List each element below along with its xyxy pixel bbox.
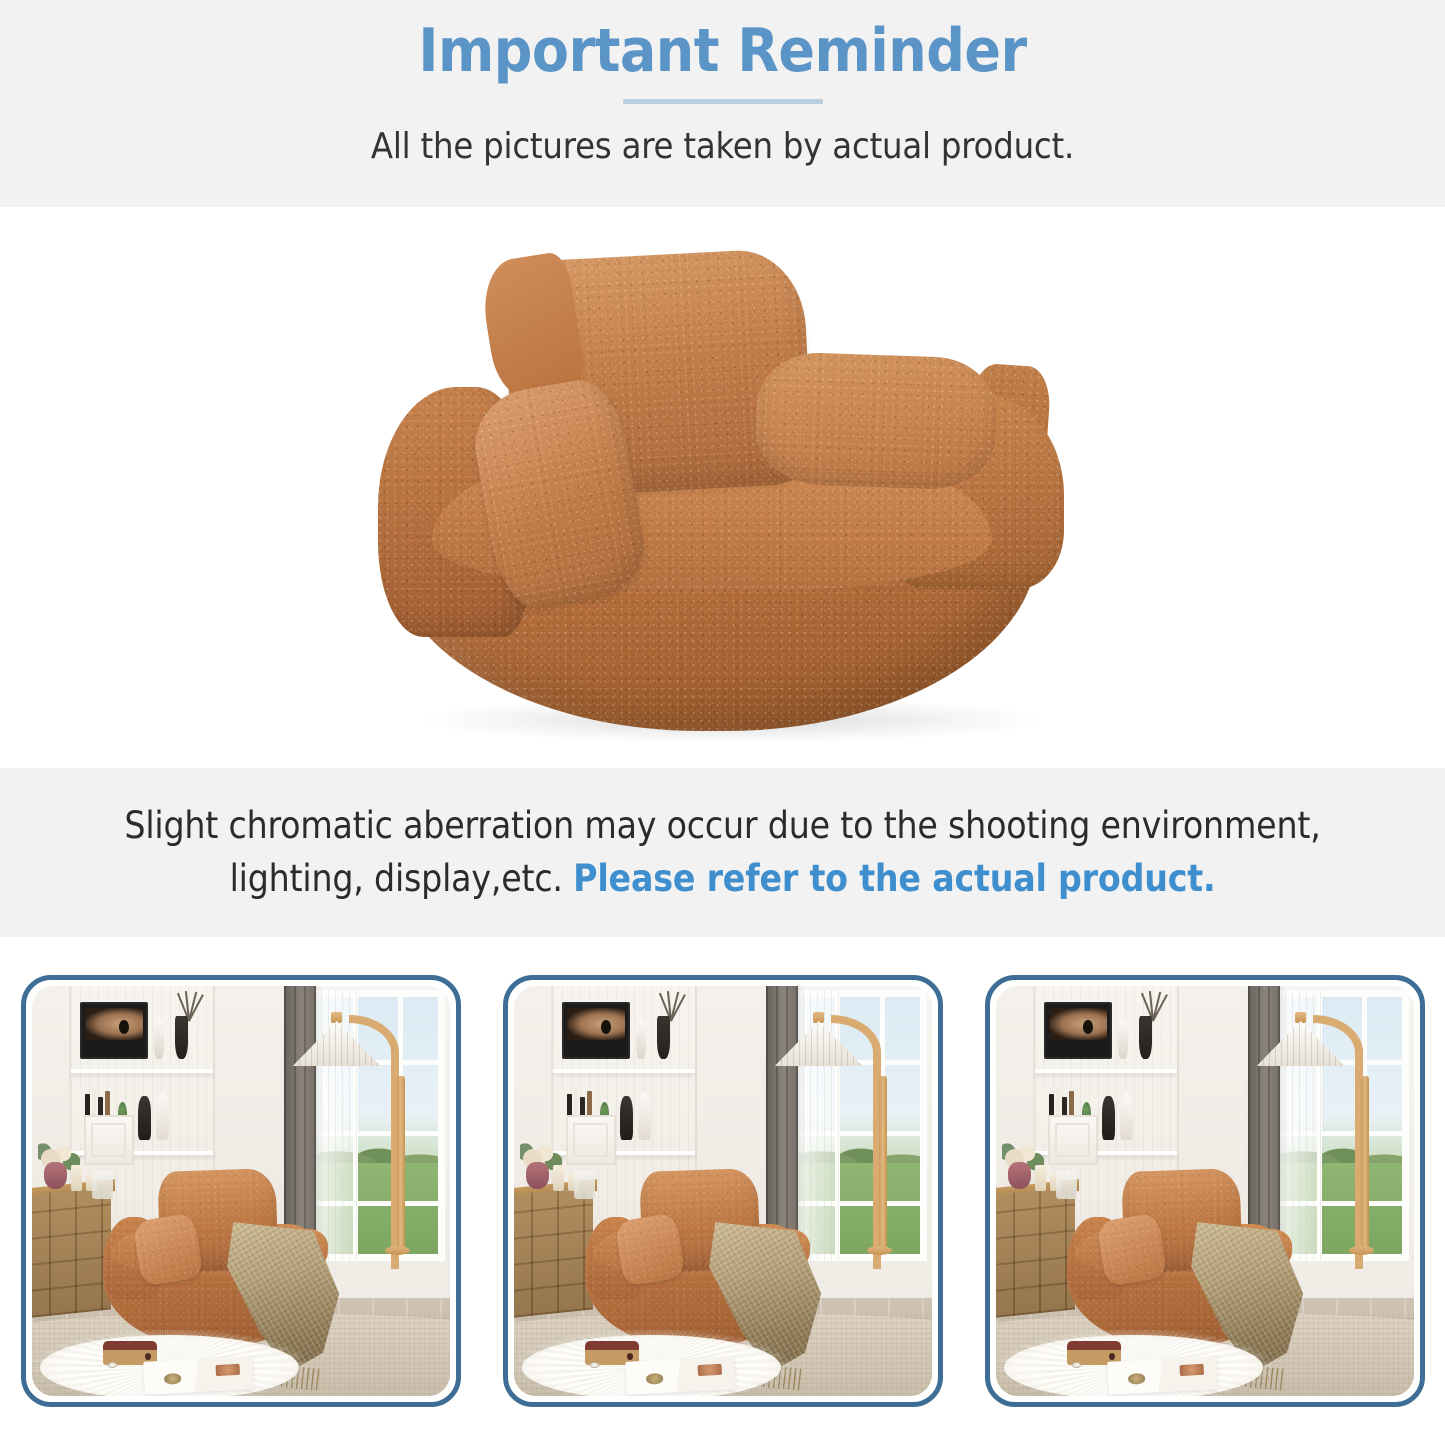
open-magazine — [626, 1356, 736, 1394]
disclaimer-accent: Please refer to the actual product. — [573, 857, 1215, 900]
disclaimer-line-1: Slight chromatic aberration may occur du… — [124, 804, 1320, 847]
disclaimer-line-2-plain: lighting, display,etc. — [230, 857, 574, 900]
product-infographic-page: Important Reminder All the pictures are … — [0, 0, 1445, 1445]
open-magazine — [1108, 1356, 1218, 1394]
bookcase-shelf — [1035, 1069, 1177, 1073]
lifestyle-card-1[interactable] — [21, 975, 461, 1407]
lifestyle-image-2 — [514, 986, 932, 1396]
black-vase — [175, 1016, 188, 1060]
hero-stage — [0, 207, 1445, 768]
white-sculpture — [636, 1018, 646, 1059]
pink-vase — [44, 1162, 67, 1189]
living-room-scene — [32, 986, 450, 1396]
wood-side-cabinet — [32, 1186, 111, 1318]
floor-lamp-stem — [397, 1076, 405, 1252]
scene-chair-side-pillow — [615, 1212, 686, 1286]
lifestyle-thumbnail-row — [0, 937, 1445, 1445]
boucle-texture — [754, 351, 998, 491]
black-vase — [657, 1016, 670, 1060]
black-vase — [1139, 1016, 1152, 1060]
framed-record-art — [562, 1002, 630, 1059]
lifestyle-image-1 — [32, 986, 450, 1396]
scene-swivel-chair — [1067, 1166, 1335, 1346]
open-magazine — [144, 1356, 254, 1394]
bookcase-shelf — [553, 1069, 695, 1073]
wood-side-cabinet — [514, 1186, 593, 1318]
framed-record-art — [80, 1002, 148, 1059]
title-divider — [623, 99, 823, 104]
wood-side-cabinet — [996, 1186, 1075, 1318]
scene-chair-side-pillow — [133, 1212, 204, 1286]
scene-chair-side-pillow — [1097, 1212, 1168, 1286]
disclaimer-band: Slight chromatic aberration may occur du… — [0, 768, 1445, 937]
white-sculpture — [154, 1018, 164, 1059]
white-decor-vase — [156, 1092, 169, 1140]
white-decor-vase — [1120, 1092, 1133, 1140]
lifestyle-image-3 — [996, 986, 1414, 1396]
bookcase-shelf — [71, 1069, 213, 1073]
black-decor-vase — [1102, 1096, 1115, 1140]
pink-vase — [526, 1162, 549, 1189]
swivel-chair-illustration — [372, 221, 1092, 749]
page-subtitle: All the pictures are taken by actual pro… — [371, 126, 1074, 167]
living-room-scene — [996, 986, 1414, 1396]
disclaimer-text: Slight chromatic aberration may occur du… — [63, 800, 1383, 905]
chair-lumbar-pillow — [754, 351, 998, 491]
header-band: Important Reminder All the pictures are … — [0, 0, 1445, 207]
black-decor-vase — [620, 1096, 633, 1140]
black-decor-vase — [138, 1096, 151, 1140]
lifestyle-card-2[interactable] — [503, 975, 943, 1407]
white-sculpture — [1118, 1018, 1128, 1059]
lifestyle-card-3[interactable] — [985, 975, 1425, 1407]
hero-product-image — [0, 207, 1445, 768]
scene-swivel-chair — [103, 1166, 371, 1346]
framed-record-art — [1044, 1002, 1112, 1059]
page-title: Important Reminder — [418, 14, 1026, 89]
pink-vase — [1008, 1162, 1031, 1189]
white-decor-vase — [638, 1092, 651, 1140]
living-room-scene — [514, 986, 932, 1396]
scene-swivel-chair — [585, 1166, 853, 1346]
floor-lamp-stem — [879, 1076, 887, 1252]
floor-lamp-stem — [1361, 1076, 1369, 1252]
